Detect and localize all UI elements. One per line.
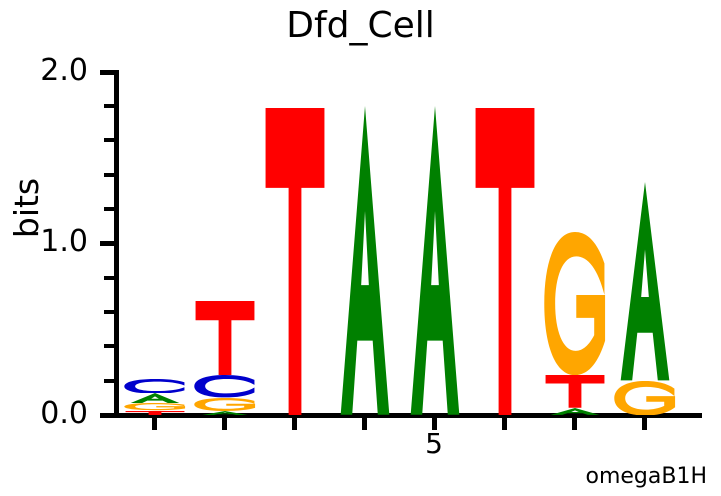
logo-letter-t [263, 108, 327, 415]
logo-stacks [0, 0, 721, 496]
logo-letter-t [193, 301, 257, 375]
logo-letter-a [193, 411, 257, 415]
logo-stack-position-8 [613, 182, 677, 415]
logo-stack-position-1 [123, 379, 187, 415]
logo-letter-a [403, 106, 467, 415]
logo-stack-position-3 [263, 108, 327, 415]
logo-letter-t [473, 108, 537, 415]
logo-letter-t [543, 375, 607, 408]
logo-stack-position-7 [543, 232, 607, 415]
logo-letter-g [123, 403, 187, 410]
logo-letter-g [613, 381, 677, 416]
logo-letter-c [193, 375, 257, 397]
logo-letter-a [123, 393, 187, 403]
logo-stack-position-5 [403, 106, 467, 415]
logo-letter-g [193, 398, 257, 411]
logo-stack-position-4 [333, 106, 397, 415]
logo-letter-g [543, 232, 607, 375]
sequence-logo-figure: Dfd_Cell bits 2.0 1.0 0.0 5 omegaB1H [0, 0, 721, 496]
logo-letter-a [613, 182, 677, 380]
logo-letter-t [123, 411, 187, 415]
logo-letter-a [543, 408, 607, 415]
logo-stack-position-2 [193, 301, 257, 415]
logo-stack-position-6 [473, 108, 537, 415]
logo-letter-c [123, 379, 187, 394]
logo-letter-a [333, 106, 397, 415]
